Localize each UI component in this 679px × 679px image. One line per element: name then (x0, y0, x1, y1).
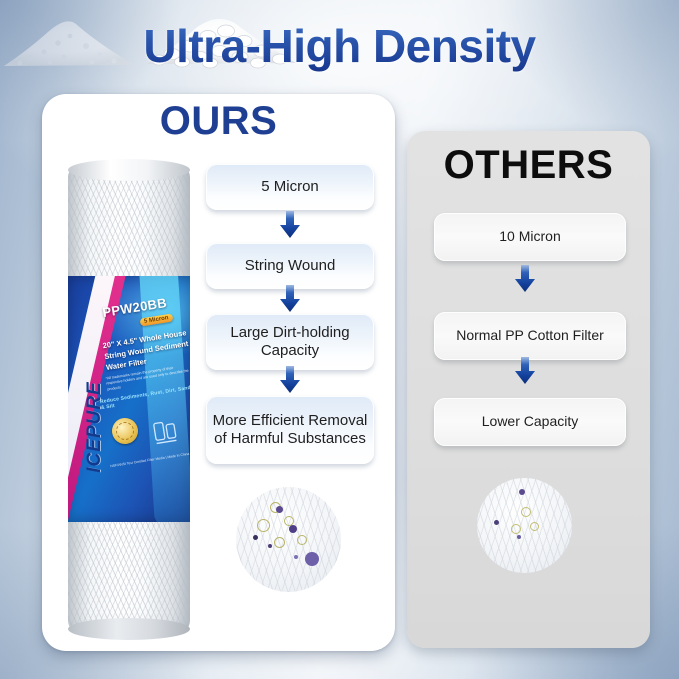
others-flow-card-3: Lower Capacity (434, 398, 626, 446)
down-arrow-icon (278, 285, 302, 313)
filter-bottom-cap (68, 618, 190, 640)
comparison-infographic: Ultra-High Density OURS PPW20BB 5 Micron… (0, 0, 679, 679)
filter-top-cap (68, 159, 190, 181)
down-arrow-icon (278, 366, 302, 394)
certification-seal-icon (110, 416, 140, 446)
others-flow-card-1: 10 Micron (434, 213, 626, 261)
ours-flow-card-3: Large Dirt-holding Capacity (206, 314, 374, 370)
others-microscope-texture (477, 478, 572, 573)
ours-flow-card-1: 5 Micron (206, 164, 374, 210)
down-arrow-icon (513, 357, 537, 385)
label-brand: ICEPURE (84, 372, 106, 482)
product-filter-cartridge: PPW20BB 5 Micron 20" X 4.5" Whole House … (68, 168, 190, 630)
down-arrow-icon (513, 265, 537, 293)
ours-flow-card-4: More Efficient Removal of Harmful Substa… (206, 396, 374, 464)
others-heading: OTHERS (407, 143, 650, 188)
filter-label: PPW20BB 5 Micron 20" X 4.5" Whole House … (68, 276, 190, 522)
ours-heading: OURS (42, 99, 395, 144)
page-title: Ultra-High Density (0, 19, 679, 73)
ours-microscope-texture (236, 487, 341, 592)
filter-housing-icon (150, 416, 180, 448)
ours-flow-card-2: String Wound (206, 243, 374, 289)
others-flow-card-2: Normal PP Cotton Filter (434, 312, 626, 360)
down-arrow-icon (278, 211, 302, 239)
